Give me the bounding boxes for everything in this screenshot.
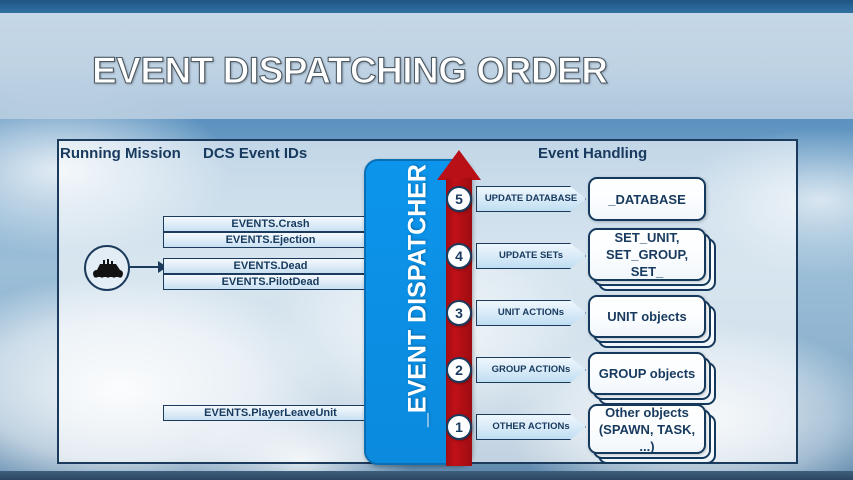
event-chevron-crash[interactable]: EVENTS.Crash	[163, 216, 378, 232]
target-card-stack-unit[interactable]: UNIT objects	[588, 295, 722, 353]
step-number-3: 3	[446, 300, 472, 326]
target-card-stack-sets[interactable]: SET_UNIT, SET_GROUP, SET_	[588, 228, 722, 294]
target-card-group: GROUP objects	[588, 352, 706, 395]
top-accent-band	[0, 0, 853, 13]
column-header-running-mission: Running Mission	[60, 145, 181, 162]
step-number-5: 5	[446, 186, 472, 212]
action-chevron-update-database[interactable]: UPDATE DATABASE	[476, 186, 586, 212]
page-title: EVENT DISPATCHING ORDER	[92, 50, 607, 92]
column-header-event-handling: Event Handling	[538, 145, 647, 162]
event-chevron-ejection[interactable]: EVENTS.Ejection	[163, 232, 378, 248]
column-header-dcs-event-ids: DCS Event IDs	[203, 145, 307, 162]
order-arrow-head-icon	[437, 150, 481, 180]
action-chevron-other-actions[interactable]: OTHER ACTIONs	[476, 414, 586, 440]
target-card-database: _DATABASE	[588, 177, 706, 221]
action-chevron-group-actions[interactable]: GROUP ACTIONs	[476, 357, 586, 383]
action-chevron-update-sets[interactable]: UPDATE SETs	[476, 243, 586, 269]
action-chevron-unit-actions[interactable]: UNIT ACTIONs	[476, 300, 586, 326]
event-dispatcher-label: _EVENT DISPATCHER	[404, 156, 433, 436]
target-card-stack-group[interactable]: GROUP objects	[588, 352, 722, 410]
tank-glyph	[91, 258, 125, 280]
bottom-accent-band	[0, 471, 853, 480]
step-number-2: 2	[446, 357, 472, 383]
target-card-unit: UNIT objects	[588, 295, 706, 338]
step-number-1: 1	[446, 414, 472, 440]
target-card-stack-database[interactable]: _DATABASE	[588, 177, 718, 221]
target-card-stack-other[interactable]: Other objects (SPAWN, TASK, ...)	[588, 404, 722, 470]
slide-canvas: EVENT DISPATCHING ORDER Running Mission …	[0, 0, 853, 480]
tank-icon	[84, 245, 130, 291]
event-chevron-dead[interactable]: EVENTS.Dead	[163, 258, 378, 274]
event-chevron-pilotdead[interactable]: EVENTS.PilotDead	[163, 274, 378, 290]
step-number-4: 4	[446, 243, 472, 269]
event-chevron-playerleaveunit[interactable]: EVENTS.PlayerLeaveUnit	[163, 405, 378, 421]
target-card-sets: SET_UNIT, SET_GROUP, SET_	[588, 228, 706, 281]
target-card-other: Other objects (SPAWN, TASK, ...)	[588, 404, 706, 454]
